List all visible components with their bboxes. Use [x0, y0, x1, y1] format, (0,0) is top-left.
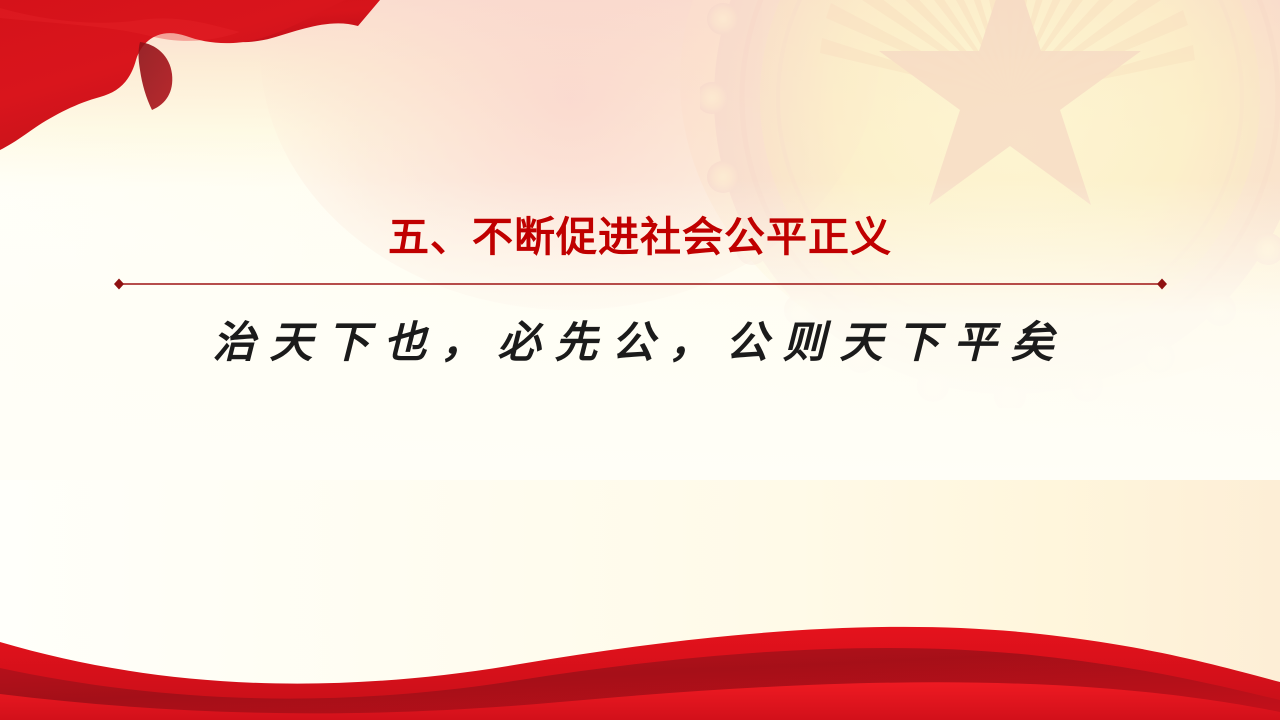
presentation-slide: 五、不断促进社会公平正义 治天下也，必先公，公则天下平矣 [0, 0, 1280, 720]
divider [113, 277, 1168, 291]
subtitle-quote: 治天下也，必先公，公则天下平矣 [0, 308, 1280, 370]
page-title: 五、不断促进社会公平正义 [0, 203, 1280, 263]
red-silk-wave-icon [0, 590, 1280, 720]
